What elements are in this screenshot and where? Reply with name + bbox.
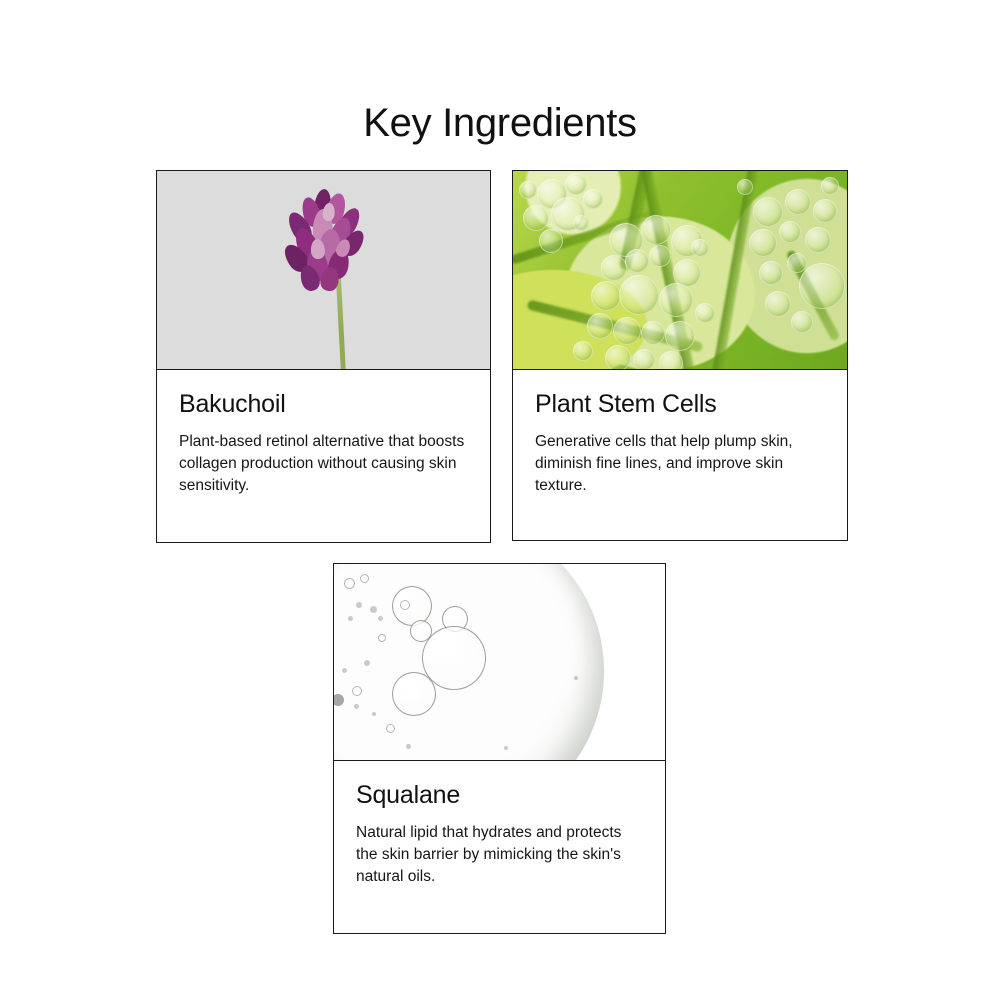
ingredient-card-squalane[interactable]: Squalane Natural lipid that hydrates and…	[333, 563, 666, 934]
ingredient-body-plant-stem-cells: Plant Stem Cells Generative cells that h…	[513, 370, 847, 513]
flower-illustration	[256, 187, 396, 367]
bubble-icon	[392, 586, 432, 626]
ingredient-card-bakuchoil[interactable]: Bakuchoil Plant-based retinol alternativ…	[156, 170, 491, 543]
bubble-icon	[392, 672, 436, 716]
ingredient-image-plant-stem-cells	[513, 171, 847, 370]
bubble-icon	[410, 620, 432, 642]
ingredient-title: Squalane	[356, 781, 643, 810]
flower-stem-icon	[335, 275, 346, 370]
ingredient-body-bakuchoil: Bakuchoil Plant-based retinol alternativ…	[157, 370, 490, 513]
ingredient-description: Generative cells that help plump skin, d…	[535, 431, 825, 497]
ingredient-title: Bakuchoil	[179, 390, 468, 419]
ingredient-description: Natural lipid that hydrates and protects…	[356, 822, 643, 888]
ingredient-image-bakuchoil	[157, 171, 490, 370]
ingredient-card-plant-stem-cells[interactable]: Plant Stem Cells Generative cells that h…	[512, 170, 848, 541]
ingredient-body-squalane: Squalane Natural lipid that hydrates and…	[334, 761, 665, 904]
ingredient-title: Plant Stem Cells	[535, 390, 825, 419]
ingredient-image-squalane	[334, 564, 665, 761]
ingredient-description: Plant-based retinol alternative that boo…	[179, 431, 468, 497]
plant-cells-illustration	[513, 171, 847, 369]
page-title: Key Ingredients	[0, 101, 1000, 145]
